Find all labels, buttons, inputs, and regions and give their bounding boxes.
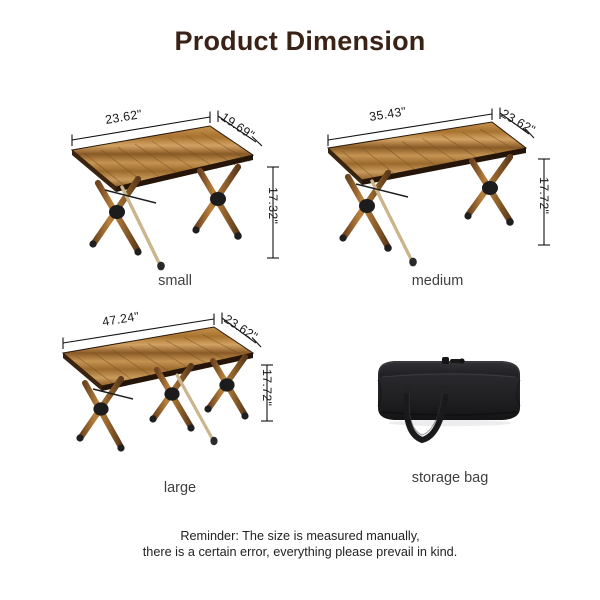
product-cell-small: 23.62" 19.69" [60, 95, 290, 275]
small-height-label: 17.32" [266, 187, 280, 224]
large-table-illustration: 47.24" 23.62" [55, 305, 305, 480]
medium-leg-pair-right [464, 157, 513, 226]
large-height-label: 17.72" [260, 369, 274, 406]
medium-leg-pair-left [339, 173, 416, 266]
bag-zipper-pull [442, 357, 465, 364]
large-height-dimension: 17.72" [260, 365, 274, 421]
caption-large: large [55, 480, 305, 496]
large-width-label: 47.24" [101, 309, 140, 329]
product-cell-large: 47.24" 23.62" [55, 305, 305, 480]
small-leg-pair-left [89, 179, 164, 270]
product-cell-medium: 35.43" 23.62" [320, 95, 555, 275]
product-cell-storage-bag: storage bag [350, 340, 550, 480]
medium-height-dimension: 17.72" [537, 159, 551, 245]
product-dimension-infographic: Product Dimension [0, 0, 600, 600]
reminder-note: Reminder: The size is measured manually,… [0, 528, 600, 560]
storage-bag-illustration [350, 340, 550, 480]
caption-small: small [60, 273, 290, 289]
caption-storage-bag: storage bag [350, 470, 550, 486]
medium-height-label: 17.72" [537, 177, 551, 214]
medium-table-illustration: 35.43" 23.62" [320, 95, 555, 275]
small-leg-pair-right [192, 167, 241, 240]
reminder-line-1: Reminder: The size is measured manually, [0, 528, 600, 544]
page-title: Product Dimension [0, 26, 600, 57]
reminder-line-2: there is a certain error, everything ple… [0, 544, 600, 560]
medium-width-label: 35.43" [368, 104, 407, 124]
small-width-label: 23.62" [104, 107, 143, 127]
caption-medium: medium [320, 273, 555, 289]
small-table-illustration: 23.62" 19.69" [60, 95, 290, 275]
small-height-dimension: 17.32" [266, 167, 280, 258]
